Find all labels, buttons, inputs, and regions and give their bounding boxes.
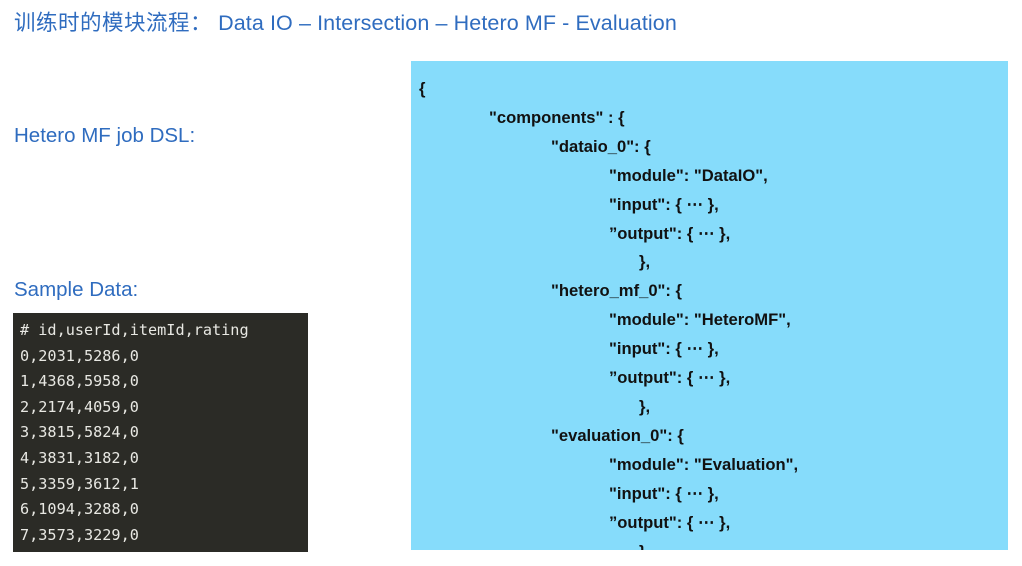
sample-data-row: 5,3359,3612,1 [20, 472, 308, 498]
dsl-line-hetero-mf-key: "hetero_mf_0": { [411, 277, 1008, 306]
section-label-sample-data: Sample Data: [14, 276, 138, 304]
dsl-line-evaluation-input: "input": { ⋯ }, [411, 480, 1008, 509]
dsl-line-evaluation-key: "evaluation_0": { [411, 422, 1008, 451]
sample-data-row: 8,5391,4596,0 [20, 548, 308, 552]
sample-data-row: 7,3573,3229,0 [20, 523, 308, 549]
dsl-line-hetero-mf-input: "input": { ⋯ }, [411, 335, 1008, 364]
page-title-pipeline: Data IO – Intersection – Hetero MF - Eva… [218, 11, 677, 35]
sample-data-row: 2,2174,4059,0 [20, 395, 308, 421]
dsl-line-dataio-close: }, [411, 248, 1008, 277]
dsl-line-hetero-mf-module: "module": "HeteroMF", [411, 306, 1008, 335]
hetero-mf-job-dsl-panel: { "components" : { "dataio_0": { "module… [411, 61, 1008, 550]
dsl-line-evaluation-output: ”output": { ⋯ }, [411, 509, 1008, 538]
dsl-line-dataio-input: "input": { ⋯ }, [411, 191, 1008, 220]
section-label-hetero-mf-job-dsl: Hetero MF job DSL: [14, 122, 195, 150]
dsl-line-dataio-module: "module": "DataIO", [411, 162, 1008, 191]
dsl-line-open-brace: { [411, 75, 1008, 104]
dsl-line-evaluation-module: "module": "Evaluation", [411, 451, 1008, 480]
dsl-line-dataio-key: "dataio_0": { [411, 133, 1008, 162]
dsl-line-evaluation-close: }, [411, 538, 1008, 551]
sample-data-row: 6,1094,3288,0 [20, 497, 308, 523]
page-title-cjk: 训练时的模块流程： [14, 11, 212, 35]
dsl-line-hetero-mf-output: ”output": { ⋯ }, [411, 364, 1008, 393]
sample-data-row: 1,4368,5958,0 [20, 369, 308, 395]
dsl-line-hetero-mf-close: }, [411, 393, 1008, 422]
page-title: 训练时的模块流程： Data IO – Intersection – Heter… [14, 8, 677, 38]
sample-data-row: 0,2031,5286,0 [20, 344, 308, 370]
sample-data-header-line: # id,userId,itemId,rating [20, 318, 308, 344]
dsl-line-dataio-output: ”output": { ⋯ }, [411, 220, 1008, 249]
dsl-line-components-key: "components" : { [411, 104, 1008, 133]
sample-data-row: 4,3831,3182,0 [20, 446, 308, 472]
sample-data-terminal: # id,userId,itemId,rating 0,2031,5286,0 … [13, 313, 308, 552]
sample-data-row: 3,3815,5824,0 [20, 420, 308, 446]
